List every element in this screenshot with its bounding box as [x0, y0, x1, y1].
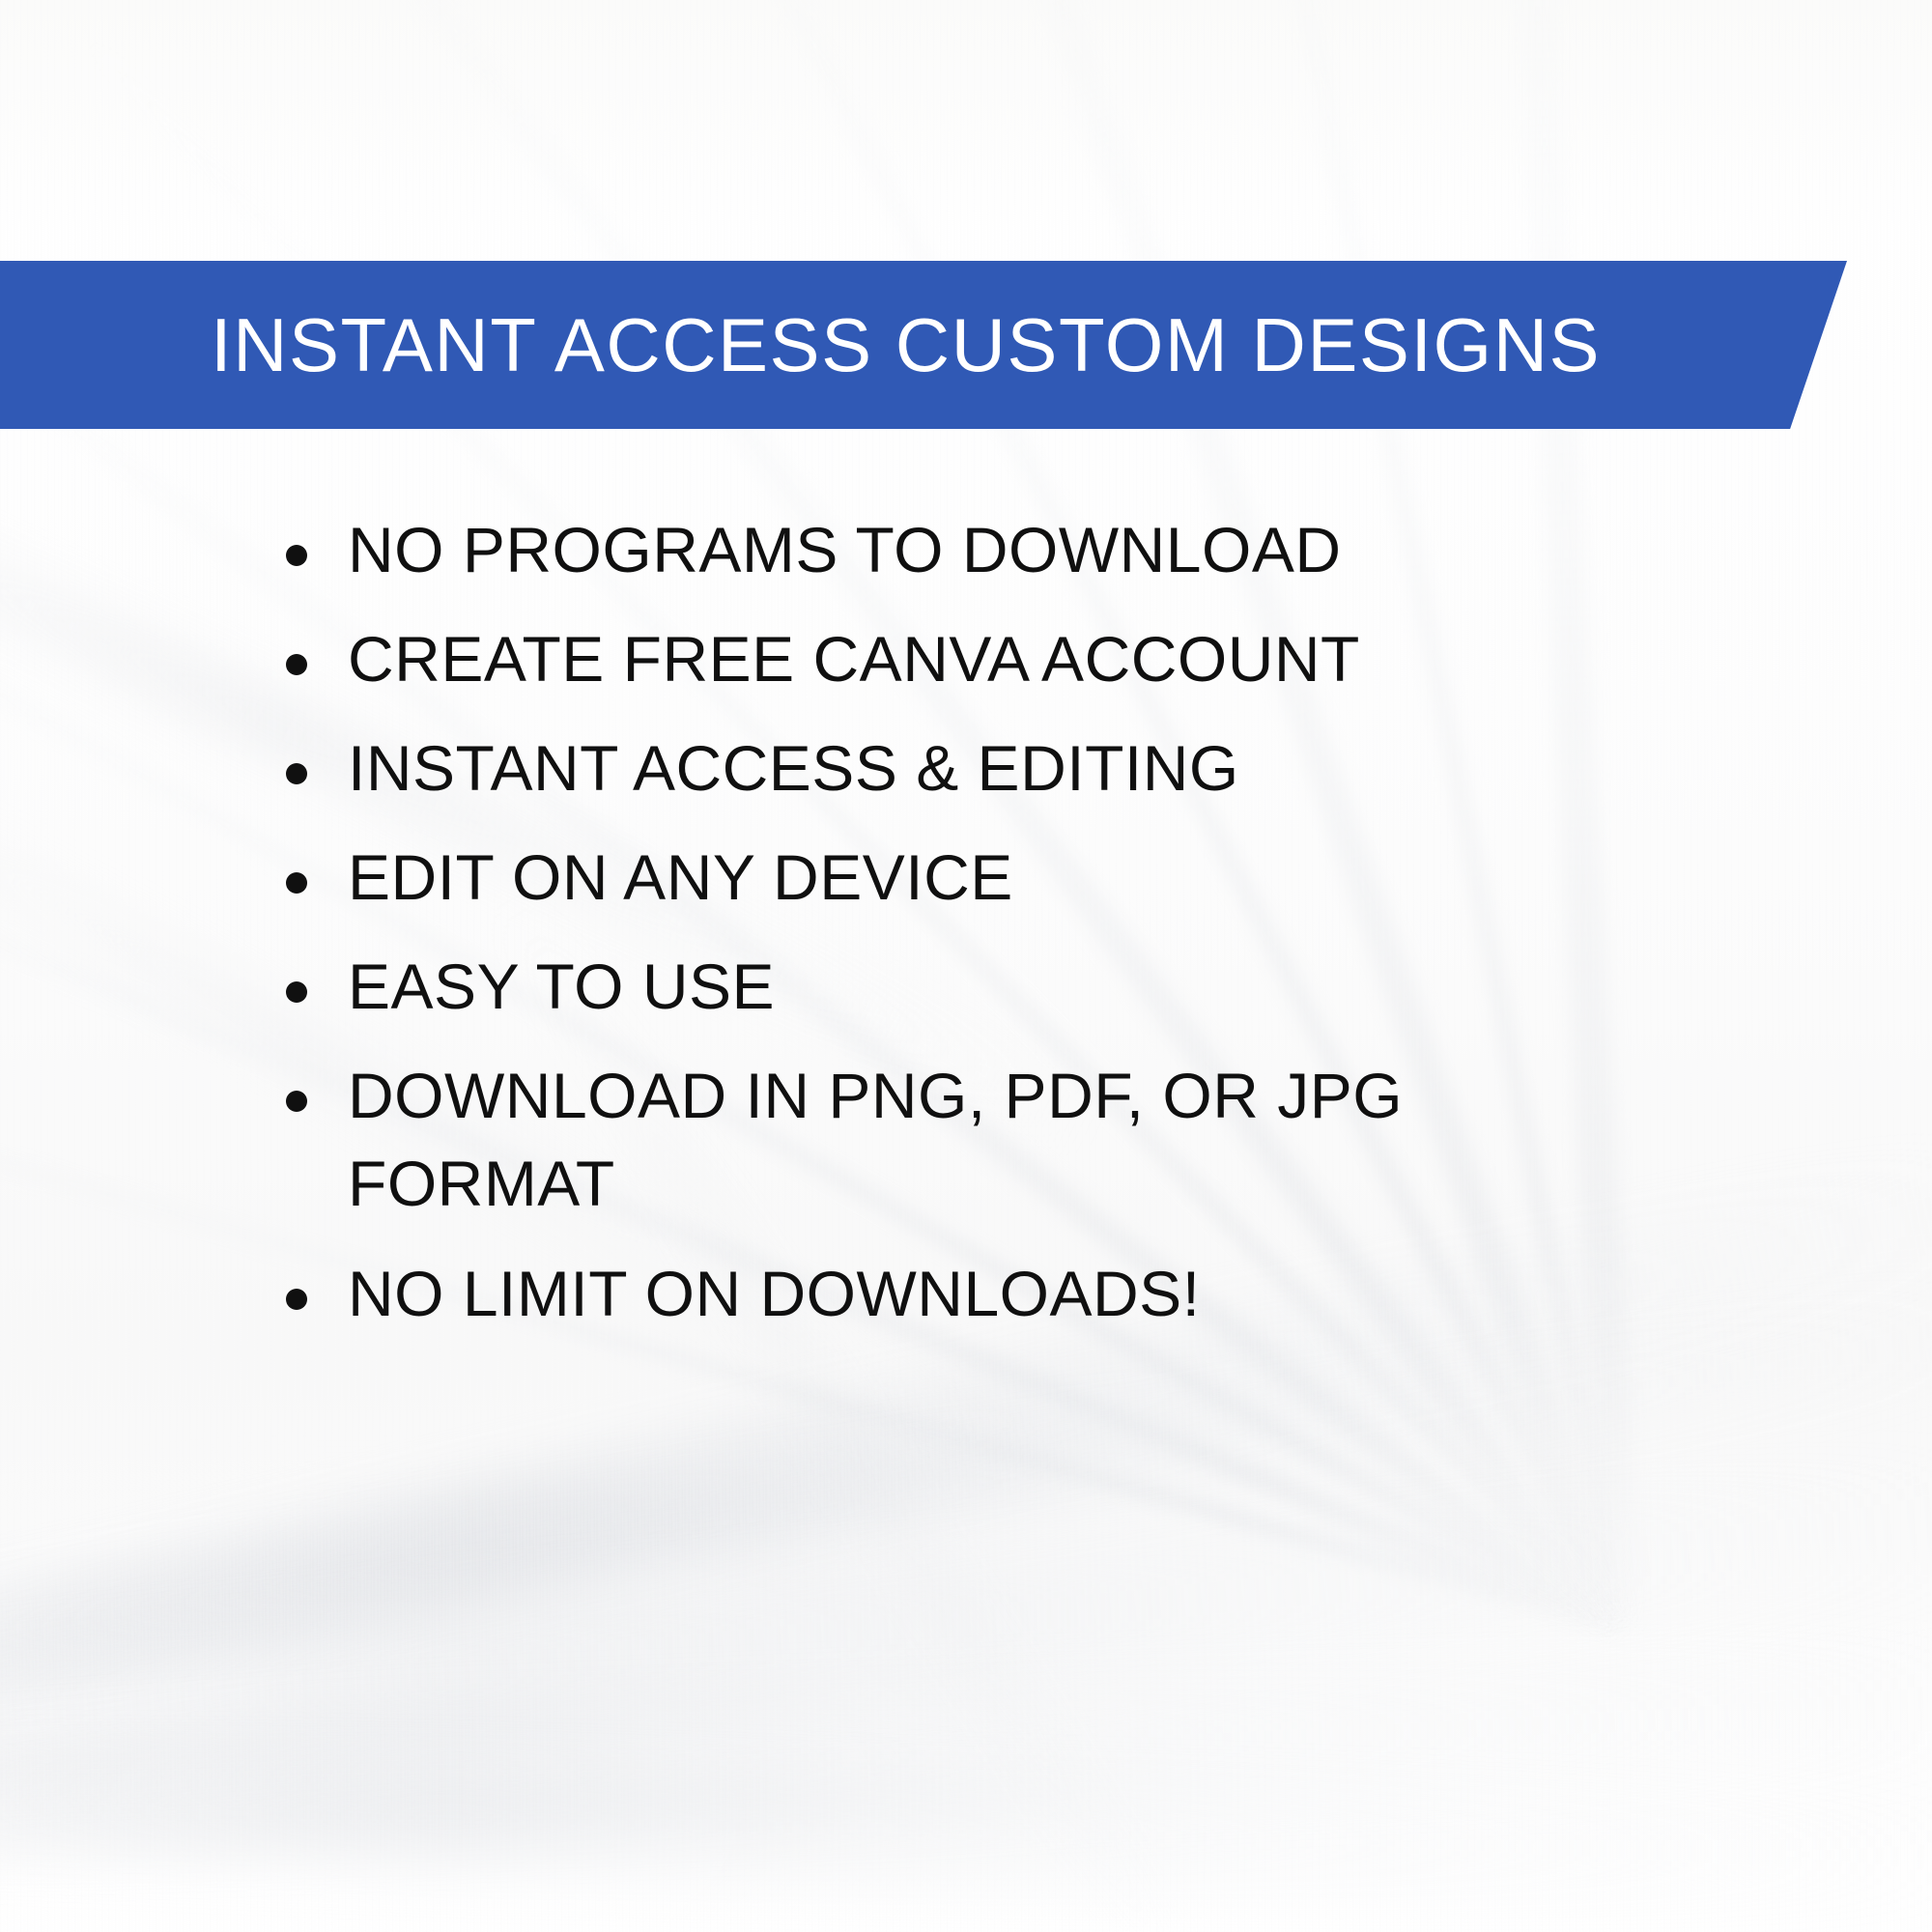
list-item: DOWNLOAD IN PNG, PDF, OR JPG FORMAT [286, 1052, 1687, 1228]
list-item: CREATE FREE CANVA ACCOUNT [286, 615, 1687, 703]
bullet-dot-icon [286, 1289, 307, 1310]
list-item: NO LIMIT ON DOWNLOADS! [286, 1250, 1687, 1338]
bullet-dot-icon [286, 1091, 307, 1112]
bullet-dot-icon [286, 763, 307, 784]
list-item-label: DOWNLOAD IN PNG, PDF, OR JPG FORMAT [348, 1052, 1687, 1228]
feature-list: NO PROGRAMS TO DOWNLOAD CREATE FREE CANV… [286, 506, 1687, 1359]
list-item-label: EDIT ON ANY DEVICE [348, 834, 1687, 922]
bullet-dot-icon [286, 981, 307, 1003]
promo-poster: INSTANT ACCESS CUSTOM DESIGNS NO PROGRAM… [0, 0, 1932, 1932]
bullet-dot-icon [286, 545, 307, 566]
list-item: EASY TO USE [286, 943, 1687, 1031]
list-item-label: INSTANT ACCESS & EDITING [348, 724, 1687, 812]
list-item-label: EASY TO USE [348, 943, 1687, 1031]
list-item-label: NO LIMIT ON DOWNLOADS! [348, 1250, 1687, 1338]
list-item-label: NO PROGRAMS TO DOWNLOAD [348, 506, 1687, 594]
page-title: INSTANT ACCESS CUSTOM DESIGNS [211, 307, 1601, 383]
list-item: INSTANT ACCESS & EDITING [286, 724, 1687, 812]
list-item: NO PROGRAMS TO DOWNLOAD [286, 506, 1687, 594]
list-item-label: CREATE FREE CANVA ACCOUNT [348, 615, 1687, 703]
bullet-dot-icon [286, 872, 307, 894]
header-banner: INSTANT ACCESS CUSTOM DESIGNS [0, 261, 1847, 429]
bullet-dot-icon [286, 654, 307, 675]
list-item: EDIT ON ANY DEVICE [286, 834, 1687, 922]
